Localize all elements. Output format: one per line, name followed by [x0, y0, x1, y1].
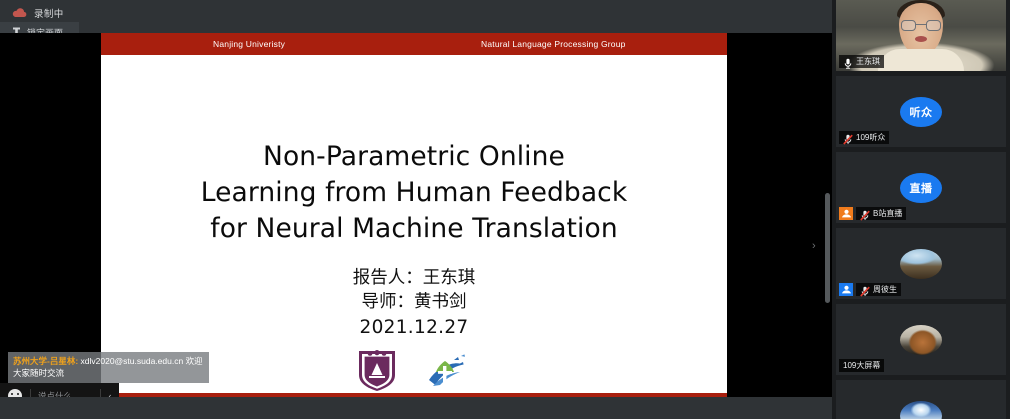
co-host-badge-icon — [839, 283, 853, 296]
mouth — [915, 36, 927, 42]
slide-credits: 报告人：王东琪 导师：黄书剑 — [353, 267, 476, 314]
chat-message-author: 苏州大学-吕星林: — [13, 356, 78, 366]
participant-name: B站直播 — [873, 208, 902, 219]
microphone-muted-icon — [860, 208, 870, 219]
slide-header-right: Natural Language Processing Group — [481, 39, 626, 49]
participant-name: 109听众 — [856, 132, 885, 143]
participant-label: B站直播 — [839, 207, 906, 220]
torso — [878, 49, 964, 71]
slide-title-line: Non-Parametric Online — [134, 139, 694, 175]
participant-name: 周彼生 — [873, 284, 897, 295]
live-stream-caption: 直播 — [910, 180, 933, 196]
participant-tile-avatar[interactable] — [836, 380, 1006, 419]
bottom-toolbar — [0, 397, 832, 419]
slide-title-line: for Neural Machine Translation — [134, 211, 694, 247]
participant-avatar — [900, 249, 942, 279]
participants-sidebar[interactable]: 王东琪 听众 109听众 — [832, 0, 1010, 419]
microphone-muted-icon — [860, 284, 870, 295]
participant-tile-avatar[interactable]: 周彼生 — [836, 228, 1006, 299]
microphone-muted-icon — [843, 132, 853, 143]
participant-name: 109大屏幕 — [843, 360, 880, 371]
host-badge-icon — [839, 207, 853, 220]
participant-label: 109听众 — [839, 131, 889, 144]
participant-label: 109大屏幕 — [839, 359, 884, 372]
cloud-icon — [12, 7, 27, 18]
audience-avatar: 听众 — [900, 97, 942, 127]
participant-label: 周彼生 — [839, 283, 901, 296]
recording-label: 录制中 — [34, 6, 64, 20]
participant-name: 王东琪 — [856, 56, 880, 67]
live-stream-avatar: 直播 — [900, 173, 942, 203]
participant-tile-screen[interactable]: 109大屏幕 — [836, 304, 1006, 375]
slide-body: Non-Parametric Online Learning from Huma… — [101, 55, 727, 391]
participant-tile-audience[interactable]: 听众 109听众 — [836, 76, 1006, 147]
audience-caption: 听众 — [910, 104, 933, 120]
microphone-icon — [843, 56, 853, 67]
slide-title-line: Learning from Human Feedback — [134, 175, 694, 211]
suzhou-logo — [423, 350, 471, 397]
participant-tile-live-stream[interactable]: 直播 — [836, 152, 1006, 223]
recording-indicator: 录制中 — [12, 4, 64, 21]
participant-avatar — [900, 401, 942, 419]
top-toolbar: 录制中 — [0, 0, 832, 33]
chat-message: 苏州大学-吕星林: xdlv2020@stu.suda.edu.cn 欢迎大家随… — [8, 352, 209, 383]
presentation-stage: Nanjing Univeristy Natural Language Proc… — [0, 33, 832, 419]
slide-date: 2021.12.27 — [360, 317, 469, 338]
participant-tile-camera[interactable]: 王东琪 — [836, 0, 1006, 71]
slide-header-left: Nanjing Univeristy — [213, 39, 285, 49]
next-slide-chevron-icon[interactable]: › — [812, 241, 816, 252]
stage-scrollbar[interactable] — [825, 193, 830, 303]
slide-title: Non-Parametric Online Learning from Huma… — [134, 139, 694, 247]
glasses-icon — [901, 20, 941, 31]
participant-label: 王东琪 — [839, 55, 884, 68]
slide-advisor: 导师：黄书剑 — [353, 291, 476, 314]
slide-header-bar: Nanjing Univeristy Natural Language Proc… — [101, 33, 727, 55]
meeting-screen: 录制中 锁定画面 Nanjing Univeristy Natural Lang… — [0, 0, 1010, 419]
participant-avatar — [900, 325, 942, 355]
slide-presenter: 报告人：王东琪 — [353, 267, 476, 290]
